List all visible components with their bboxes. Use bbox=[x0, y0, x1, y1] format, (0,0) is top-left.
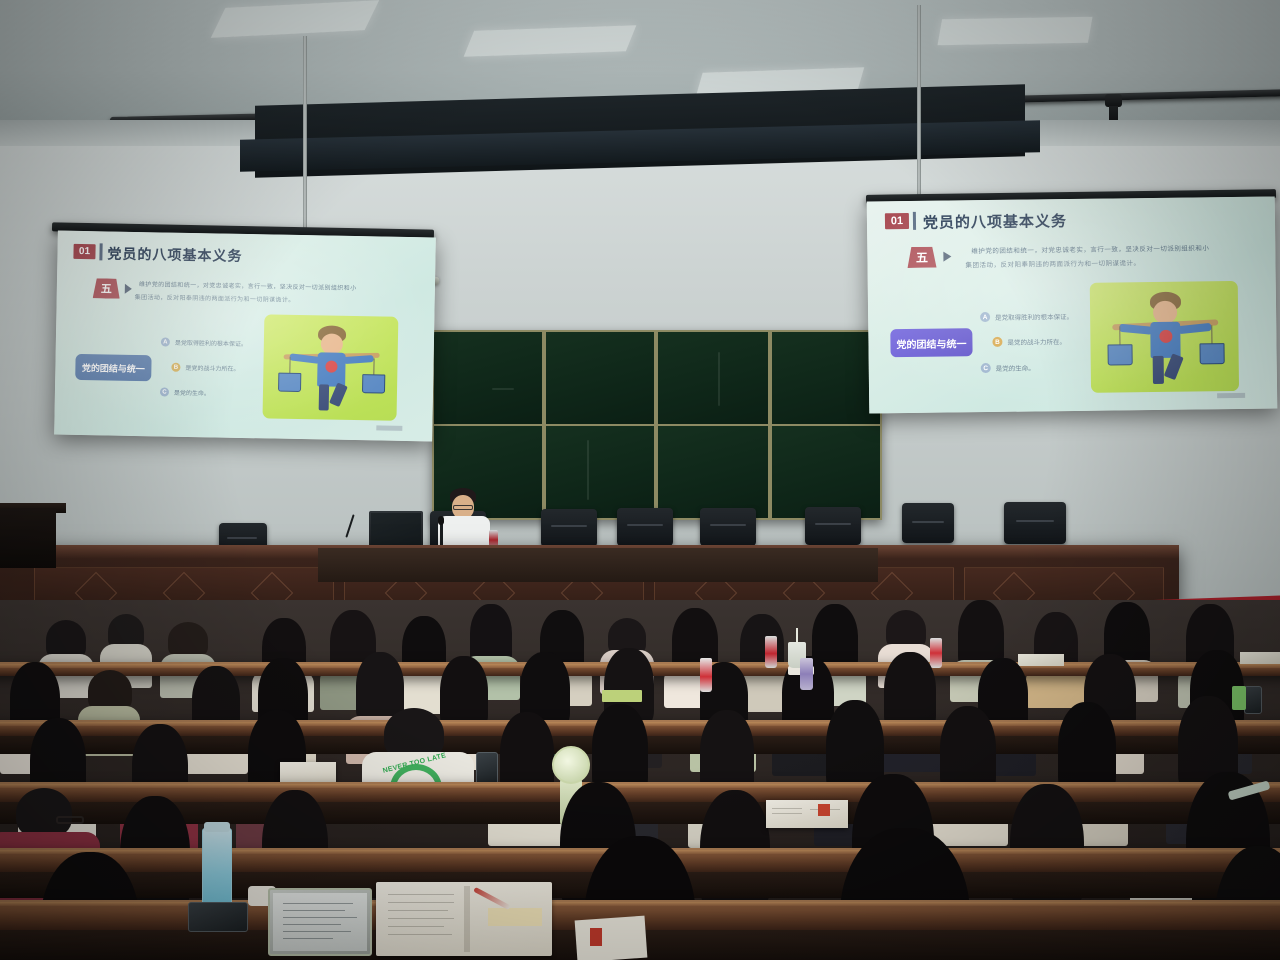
projection-screen-left: 01 党员的八项基本义务 五 维护党的团结和统一，对党忠诚老实，言行一致，坚决反… bbox=[54, 231, 436, 442]
cup-straw bbox=[796, 628, 798, 644]
blackboard-panel bbox=[432, 330, 544, 426]
notebook[interactable] bbox=[1240, 652, 1280, 664]
bullet-text-b: 是党的战斗力所在。 bbox=[185, 363, 239, 373]
bullet-text-c: 是党的生命。 bbox=[174, 388, 210, 398]
presenter-desk-front bbox=[318, 548, 878, 582]
bullet-marker-c: C bbox=[981, 363, 991, 373]
desk-row bbox=[0, 782, 1280, 802]
chalk-smudge bbox=[492, 388, 514, 390]
bullet-marker-b: B bbox=[992, 337, 1002, 347]
blackboard-panel bbox=[770, 330, 882, 426]
worker-leg-left bbox=[1153, 356, 1164, 384]
chair-slot bbox=[551, 525, 587, 527]
bullet-marker-b: B bbox=[171, 363, 180, 372]
lecture-hall-photo: 教学楼多媒体设备使用须知 0 bbox=[0, 0, 1280, 960]
chair-slot bbox=[912, 521, 944, 523]
bucket-right bbox=[362, 374, 385, 393]
chair-slot bbox=[710, 524, 746, 526]
tablet-device[interactable] bbox=[268, 888, 372, 956]
stage-chair[interactable] bbox=[617, 508, 673, 546]
desk-front-panel bbox=[0, 802, 1280, 824]
worker-badge bbox=[1159, 330, 1172, 343]
bottle-cap bbox=[204, 822, 230, 832]
projection-screen-right: 01 党员的八项基本义务 五 维护党的团结和统一，对党忠诚老实，言行一致，坚决反… bbox=[867, 197, 1278, 414]
slide-item-number: 五 bbox=[93, 278, 120, 298]
chalk-smudge bbox=[718, 352, 720, 406]
student-hair bbox=[16, 788, 72, 838]
ceiling-light-panel bbox=[211, 0, 379, 38]
slide-arrow-icon bbox=[125, 284, 132, 294]
book-line bbox=[388, 918, 454, 919]
water-bottle[interactable] bbox=[800, 658, 813, 690]
book-spine-shadow bbox=[464, 886, 470, 952]
eyeglasses-icon bbox=[56, 816, 84, 824]
blackboard-panel bbox=[544, 424, 656, 520]
water-bottle-front[interactable] bbox=[202, 828, 232, 912]
fan-rod bbox=[303, 36, 307, 246]
tablet-text-line bbox=[283, 924, 341, 925]
chair-slot bbox=[815, 523, 851, 525]
book-line bbox=[388, 926, 444, 927]
slide-bullet-c: C 是党的生命。 bbox=[160, 387, 210, 397]
bullet-marker-c: C bbox=[160, 387, 169, 396]
spotlight-fixture bbox=[1105, 94, 1122, 107]
book-bookmark bbox=[818, 804, 830, 816]
slide-bullet-a: A 是党取得胜利的根本保证。 bbox=[161, 337, 247, 348]
open-textbook[interactable] bbox=[376, 882, 552, 956]
book-line bbox=[388, 934, 452, 935]
slide-section-badge: 01 bbox=[885, 213, 909, 229]
slide-illustration bbox=[262, 314, 398, 420]
blackboard-panel bbox=[656, 424, 770, 520]
chair-slot bbox=[1016, 520, 1054, 522]
bullet-marker-a: A bbox=[980, 312, 990, 322]
notebook[interactable] bbox=[1018, 654, 1064, 666]
ceiling-light-panel bbox=[937, 17, 1092, 46]
blackboard bbox=[432, 330, 882, 520]
blackboard-panel bbox=[770, 424, 882, 520]
slide-key-chip: 党的团结与统一 bbox=[890, 328, 972, 357]
audience-seating-area: NEVER TOO LATE FUTURE IT bbox=[0, 600, 1280, 960]
tablet-text-line bbox=[283, 931, 351, 932]
bullet-text-c: 是党的生命。 bbox=[996, 362, 1035, 372]
slide-credit-mark bbox=[1217, 393, 1245, 398]
bucket-left bbox=[1107, 344, 1132, 365]
slide-item-number: 五 bbox=[907, 247, 936, 268]
bullet-marker-a: A bbox=[161, 337, 170, 346]
slide-credit-mark bbox=[376, 425, 402, 430]
tablet-screen bbox=[273, 893, 367, 951]
slide-bullet-a: A 是党取得胜利的根本保证。 bbox=[980, 311, 1073, 322]
tablet-text-line bbox=[283, 910, 345, 911]
worker-arm-right bbox=[1178, 323, 1212, 334]
stage-chair[interactable] bbox=[541, 509, 597, 547]
slide-key-chip: 党的团结与统一 bbox=[75, 354, 151, 381]
blackboard-panel bbox=[544, 330, 656, 426]
slide-bullet-b: B 是党的战斗力所在。 bbox=[992, 336, 1066, 347]
slide-title: 党员的八项基本义务 bbox=[923, 210, 1067, 233]
green-item bbox=[1232, 686, 1246, 710]
worker-arm-right bbox=[343, 355, 373, 364]
side-cabinet bbox=[0, 508, 56, 568]
bullet-text-b: 是党的战斗力所在。 bbox=[1007, 336, 1066, 347]
slide-title-divider bbox=[99, 243, 102, 260]
microphone-head bbox=[438, 516, 444, 525]
bucket-left bbox=[278, 373, 301, 392]
bullet-text-a: 是党取得胜利的根本保证。 bbox=[995, 311, 1073, 322]
chair-slot bbox=[627, 524, 663, 526]
chair-slot bbox=[227, 537, 257, 539]
stage-chair[interactable] bbox=[902, 503, 954, 543]
paper-sheet[interactable] bbox=[575, 916, 648, 960]
worker-leg-left bbox=[319, 384, 329, 410]
paper-marker bbox=[590, 928, 602, 946]
slide-illustration bbox=[1090, 281, 1239, 393]
worker-arm-left bbox=[1119, 324, 1153, 335]
water-bottle[interactable] bbox=[765, 636, 777, 668]
open-book[interactable] bbox=[766, 800, 848, 828]
slide-body-line-2: 集团活动，反对阳奉阴违的两面派行为和一切阴谋诡计。 bbox=[965, 257, 1140, 269]
pen[interactable] bbox=[473, 887, 511, 910]
blackboard-panel bbox=[656, 330, 770, 426]
podium-monitor bbox=[369, 511, 423, 549]
water-bottle[interactable] bbox=[700, 658, 712, 692]
chalk-smudge bbox=[587, 440, 589, 500]
slide-bullet-b: B 是党的战斗力所在。 bbox=[171, 363, 239, 373]
slide-title: 党员的八项基本义务 bbox=[107, 243, 242, 265]
bucket-right bbox=[1199, 343, 1224, 364]
slide-section-badge: 01 bbox=[73, 244, 95, 259]
slide-bullet-c: C 是党的生命。 bbox=[981, 362, 1035, 373]
open-book[interactable] bbox=[280, 762, 336, 782]
book-line bbox=[772, 813, 802, 814]
worker-head bbox=[1153, 301, 1177, 324]
stage-chair[interactable] bbox=[805, 507, 861, 545]
mini-fan-head-icon bbox=[552, 746, 590, 784]
book-line bbox=[388, 910, 448, 911]
smartphone-front[interactable] bbox=[188, 902, 248, 932]
book-line bbox=[772, 808, 802, 809]
book-highlight bbox=[488, 908, 542, 926]
tablet-text-line bbox=[283, 903, 353, 904]
book-line bbox=[388, 902, 454, 903]
presenter-glasses bbox=[453, 505, 473, 510]
book-line bbox=[388, 894, 454, 895]
slide-arrow-icon bbox=[943, 251, 951, 261]
tablet-text-line bbox=[283, 917, 357, 918]
student-hair bbox=[168, 622, 208, 658]
monitor-screen bbox=[371, 513, 421, 547]
ceiling-light-panel bbox=[464, 25, 637, 57]
smartphone[interactable] bbox=[476, 752, 498, 786]
stage-chair[interactable] bbox=[1004, 502, 1066, 544]
tablet-text-line bbox=[283, 938, 333, 939]
smartphone[interactable] bbox=[1244, 686, 1262, 714]
presenter bbox=[436, 488, 496, 550]
stage-chair[interactable] bbox=[700, 508, 756, 546]
slide-title-divider bbox=[913, 212, 916, 230]
notebook[interactable] bbox=[602, 690, 642, 702]
bullet-text-a: 是党取得胜利的根本保证。 bbox=[175, 338, 247, 348]
water-bottle[interactable] bbox=[930, 638, 942, 668]
